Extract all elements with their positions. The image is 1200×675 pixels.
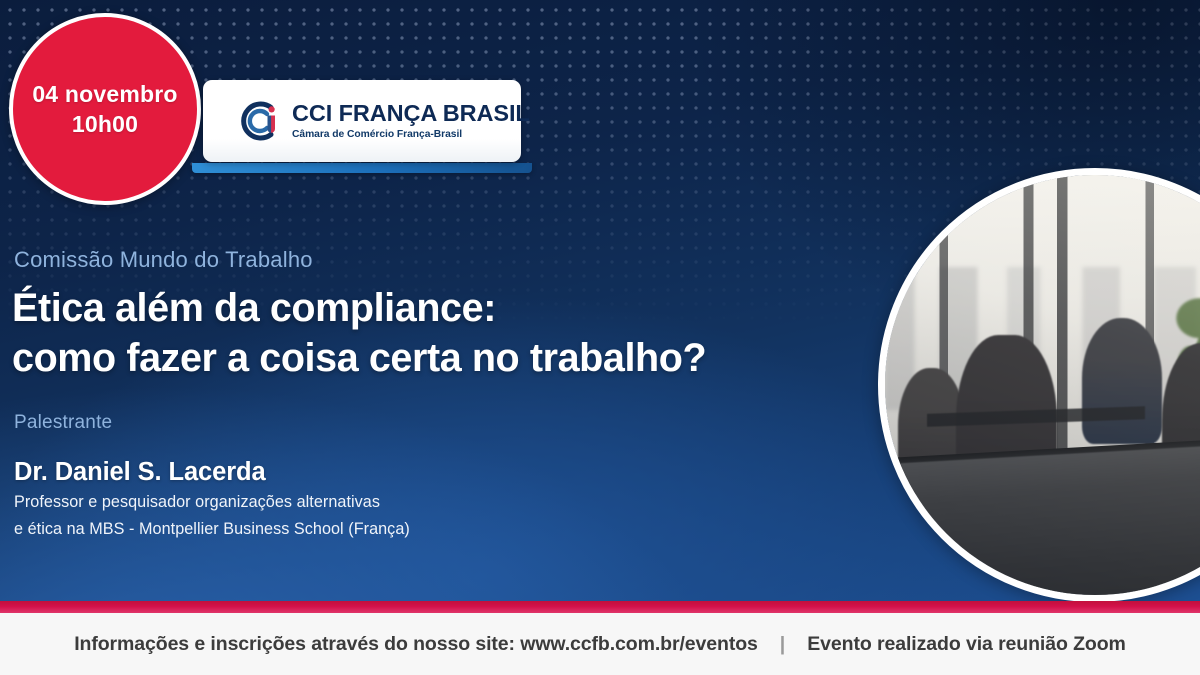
logo-subtitle: Câmara de Comércio França-Brasil	[292, 130, 530, 140]
speaker-name: Dr. Daniel S. Lacerda	[14, 458, 266, 487]
date-badge: 04 novembro 10h00	[9, 13, 201, 205]
date-badge-date: 04 novembro	[32, 79, 177, 109]
footer-info-text: Informações e inscrições através do noss…	[74, 633, 758, 656]
speaker-label: Palestrante	[14, 412, 112, 434]
logo-card: CCI FRANÇA BRASIL Câmara de Comércio Fra…	[203, 80, 521, 162]
headline-line-1: Ética além da compliance:	[12, 283, 706, 333]
logo-title: CCI FRANÇA BRASIL	[292, 102, 530, 126]
speaker-role-line-2: e ética na MBS - Montpellier Business Sc…	[14, 516, 410, 543]
event-headline: Ética além da compliance: como fazer a c…	[12, 283, 706, 383]
logo-text-group: CCI FRANÇA BRASIL Câmara de Comércio Fra…	[292, 102, 530, 140]
photo-inner	[885, 175, 1200, 595]
footer-bar: Informações e inscrições através do noss…	[0, 613, 1200, 675]
logo-accent-stripe	[192, 163, 532, 173]
speaker-role: Professor e pesquisador organizações alt…	[14, 489, 410, 542]
cci-logo-icon	[237, 99, 281, 143]
footer-platform-text: Evento realizado via reunião Zoom	[807, 633, 1126, 656]
event-banner: 04 novembro 10h00 CCI FRANÇA BRASIL Câma…	[0, 0, 1200, 675]
headline-line-2: como fazer a coisa certa no trabalho?	[12, 333, 706, 383]
red-divider-bar	[0, 601, 1200, 613]
photo-color-overlay	[885, 175, 1200, 595]
date-badge-time: 10h00	[72, 109, 138, 139]
commission-eyebrow: Comissão Mundo do Trabalho	[14, 247, 313, 273]
business-meeting-photo	[878, 168, 1200, 602]
speaker-role-line-1: Professor e pesquisador organizações alt…	[14, 489, 410, 516]
footer-separator: |	[780, 633, 785, 656]
